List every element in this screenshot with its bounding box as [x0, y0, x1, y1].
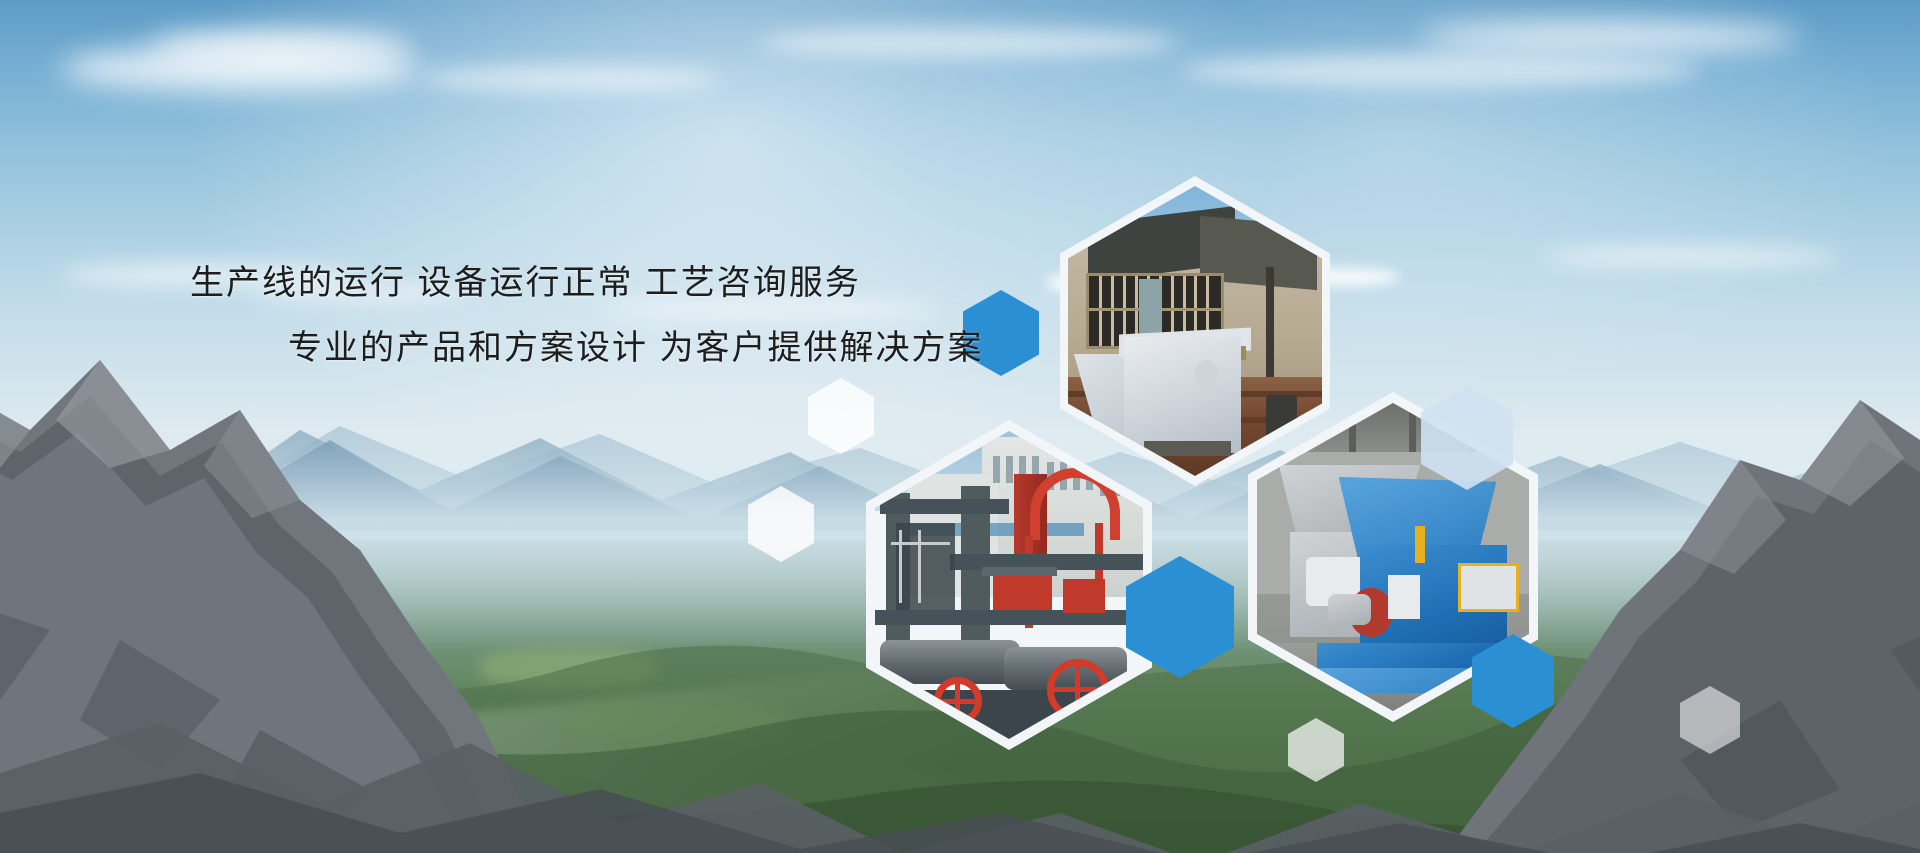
photo-yellow-marker [1415, 526, 1425, 563]
photo-window-pane [1139, 279, 1162, 337]
cloud [150, 30, 410, 64]
cloud [420, 66, 720, 92]
cloud [1420, 22, 1800, 52]
headline-line-2: 专业的产品和方案设计 为客户提供解决方案 [0, 327, 1060, 370]
photo-machine-flywheel [1195, 360, 1218, 389]
photo-steel-beam [880, 499, 1009, 514]
cloud [760, 28, 1180, 58]
photo-panel [982, 567, 1057, 576]
cloud [1540, 246, 1840, 268]
hero-banner: 生产线的运行 设备运行正常 工艺咨询服务 专业的产品和方案设计 为客户提供解决方… [0, 0, 1920, 853]
photo-control-box [1388, 575, 1421, 618]
cloud [1180, 54, 1700, 88]
photo-machine-base [1144, 441, 1230, 456]
photo-red-panel [993, 573, 1052, 610]
headline-block: 生产线的运行 设备运行正常 工艺咨询服务 专业的产品和方案设计 为客户提供解决方… [0, 262, 1060, 369]
headline-line-1: 生产线的运行 设备运行正常 工艺咨询服务 [0, 262, 1060, 305]
photo-panel [896, 523, 955, 609]
photo-machine-body [1124, 337, 1241, 453]
photo-rail [891, 542, 950, 545]
photo-motor-shaft [1328, 594, 1372, 625]
photo-yellow-guard [1458, 563, 1518, 612]
photo-rail [899, 530, 902, 604]
photo-red-panel [1063, 579, 1106, 613]
photo-rail [918, 530, 921, 604]
